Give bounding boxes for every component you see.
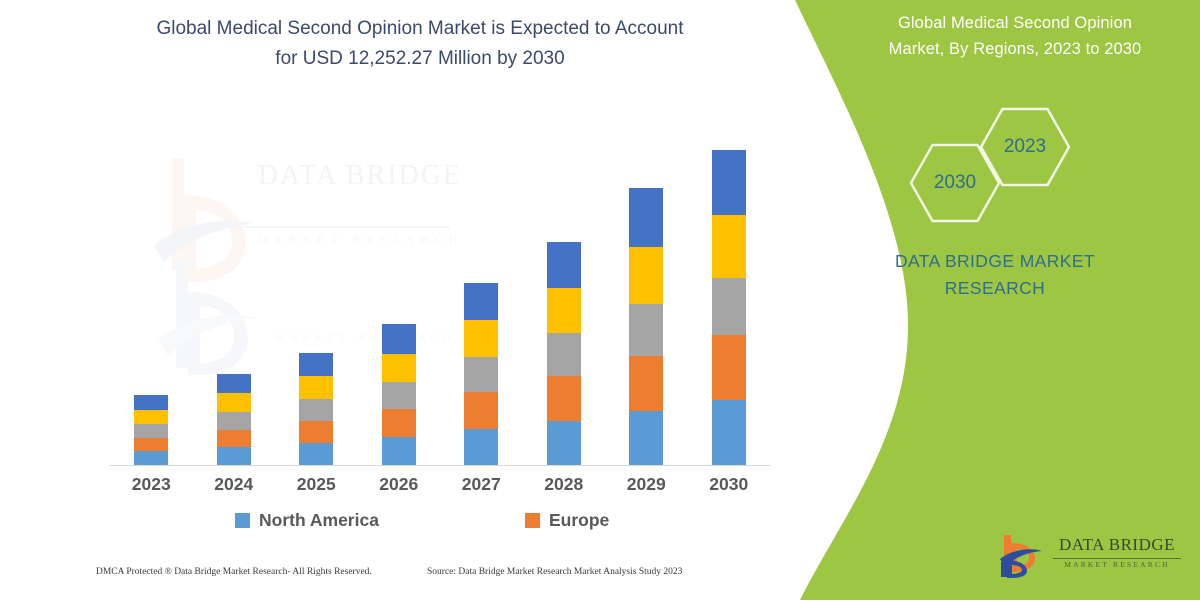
- bar-slot: [358, 140, 441, 465]
- stacked-bar-2028[interactable]: [547, 242, 581, 465]
- bar-segment: [712, 215, 746, 278]
- bar-segment: [547, 376, 581, 421]
- legend-label: Europe: [549, 510, 609, 531]
- bar-segment: [712, 335, 746, 401]
- stacked-bar-2027[interactable]: [464, 283, 498, 465]
- stacked-bar-2024[interactable]: [217, 374, 251, 465]
- bar-segment: [217, 374, 251, 393]
- bar-segment: [134, 410, 168, 425]
- x-axis-label-2025: 2025: [275, 474, 358, 495]
- stacked-bar-2023[interactable]: [134, 395, 168, 465]
- bar-segment: [547, 288, 581, 333]
- legend-label: North America: [259, 510, 379, 531]
- bar-segment: [382, 409, 416, 437]
- hexagon-2023-label: 2023: [980, 107, 1070, 187]
- data-bridge-logo-icon: [995, 532, 1045, 580]
- stacked-bar-2029[interactable]: [629, 188, 663, 465]
- legend-swatch: [525, 513, 540, 528]
- x-axis-labels: 20232024202520262027202820292030: [110, 474, 770, 495]
- bar-segment: [299, 376, 333, 399]
- bar-segment: [217, 412, 251, 430]
- hexagon-group: 2030 2023: [890, 115, 1190, 225]
- bar-segment: [134, 424, 168, 438]
- bar-segment: [629, 356, 663, 411]
- bar-segment: [712, 400, 746, 465]
- bar-slot: [110, 140, 193, 465]
- bar-segment: [464, 283, 498, 321]
- panel-brand-line2: RESEARCH: [820, 275, 1170, 302]
- legend-item[interactable]: North America: [235, 510, 379, 531]
- logo-tagline: MARKET RESEARCH: [1051, 560, 1183, 569]
- bar-slot: [523, 140, 606, 465]
- bar-slot: [275, 140, 358, 465]
- bar-segment: [629, 188, 663, 247]
- panel-title-line1: Global Medical Second Opinion: [840, 10, 1190, 36]
- bar-slot: [440, 140, 523, 465]
- stacked-bar-2025[interactable]: [299, 353, 333, 465]
- legend-item[interactable]: Europe: [525, 510, 609, 531]
- x-axis-label-2027: 2027: [440, 474, 523, 495]
- bar-segment: [299, 443, 333, 465]
- bar-segment: [382, 382, 416, 409]
- bar-segment: [464, 320, 498, 356]
- infographic-page: Global Medical Second Opinion Market, By…: [0, 0, 1200, 600]
- bar-slot: [688, 140, 771, 465]
- x-axis-label-2024: 2024: [193, 474, 276, 495]
- footer-source: Source: Data Bridge Market Research Mark…: [427, 567, 682, 577]
- bar-segment: [217, 447, 251, 465]
- bar-segment: [382, 354, 416, 382]
- green-panel-content: Global Medical Second Opinion Market, By…: [780, 0, 1200, 600]
- bar-segment: [217, 430, 251, 448]
- bar-segment: [299, 399, 333, 421]
- chart-legend: North AmericaEurope: [110, 510, 770, 540]
- x-axis-label-2029: 2029: [605, 474, 688, 495]
- stacked-bars: [110, 140, 770, 465]
- bar-segment: [382, 437, 416, 465]
- brand-logo: DATA BRIDGE MARKET RESEARCH: [995, 530, 1185, 582]
- bar-segment: [464, 392, 498, 428]
- logo-rule: [1053, 558, 1181, 559]
- bar-segment: [547, 421, 581, 465]
- bar-segment: [547, 242, 581, 288]
- x-axis-label-2030: 2030: [688, 474, 771, 495]
- bar-segment: [464, 357, 498, 392]
- panel-brand-line1: DATA BRIDGE MARKET: [820, 248, 1170, 275]
- hexagon-2023: 2023: [980, 107, 1070, 187]
- logo-name: DATA BRIDGE: [1051, 535, 1183, 555]
- bar-segment: [134, 451, 168, 465]
- panel-brand-text: DATA BRIDGE MARKET RESEARCH: [820, 248, 1170, 302]
- stacked-bar-2030[interactable]: [712, 150, 746, 465]
- bar-segment: [629, 304, 663, 356]
- bar-segment: [547, 333, 581, 377]
- logo-mark-shape: [995, 532, 1045, 580]
- chart-plot-area: [110, 140, 770, 466]
- bar-segment: [629, 247, 663, 303]
- bar-segment: [217, 393, 251, 412]
- footer-copyright: DMCA Protected ® Data Bridge Market Rese…: [96, 567, 372, 577]
- bar-segment: [712, 278, 746, 335]
- legend-swatch: [235, 513, 250, 528]
- bar-segment: [299, 353, 333, 377]
- bar-segment: [712, 150, 746, 215]
- bar-segment: [134, 395, 168, 410]
- bar-segment: [299, 421, 333, 443]
- bar-segment: [382, 324, 416, 353]
- panel-title: Global Medical Second Opinion Market, By…: [840, 10, 1190, 62]
- bar-segment: [134, 438, 168, 452]
- page-title-line2: for USD 12,252.27 Million by 2030: [110, 44, 730, 74]
- x-axis-line: [110, 465, 770, 466]
- x-axis-label-2023: 2023: [110, 474, 193, 495]
- x-axis-label-2026: 2026: [358, 474, 441, 495]
- bar-slot: [605, 140, 688, 465]
- bar-segment: [629, 411, 663, 465]
- bar-segment: [464, 429, 498, 465]
- panel-title-line2: Market, By Regions, 2023 to 2030: [840, 36, 1190, 62]
- x-axis-label-2028: 2028: [523, 474, 606, 495]
- page-title-line1: Global Medical Second Opinion Market is …: [110, 14, 730, 44]
- bar-slot: [193, 140, 276, 465]
- stacked-bar-2026[interactable]: [382, 324, 416, 465]
- page-title: Global Medical Second Opinion Market is …: [110, 14, 730, 74]
